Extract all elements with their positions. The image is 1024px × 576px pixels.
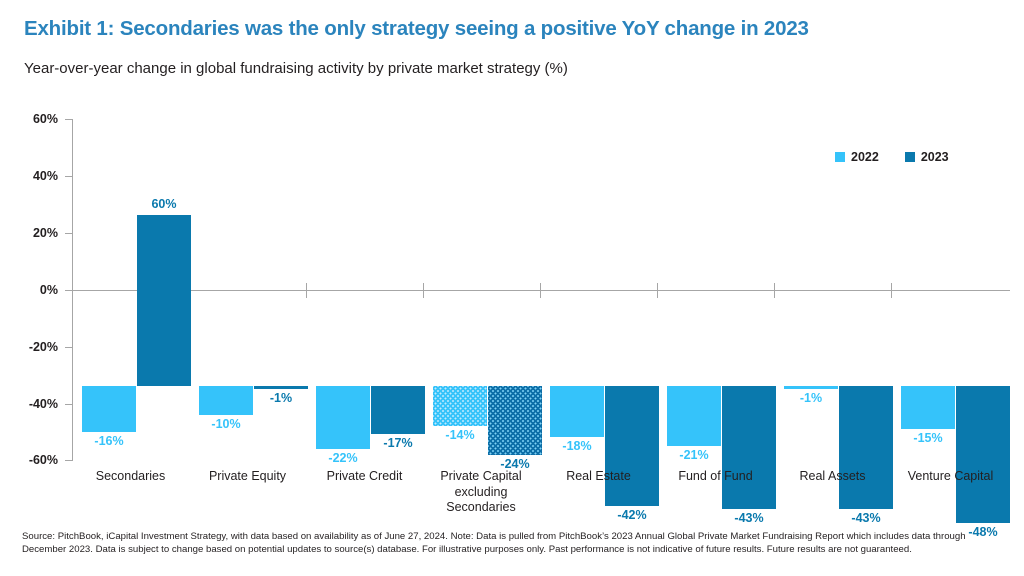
y-tick-mark [65,290,73,291]
x-axis-label-private-credit: Private Credit [306,469,423,485]
bar-2022-real-assets[interactable] [784,386,838,389]
x-axis-label-venture-capital: Venture Capital [891,469,1010,485]
y-tick-label: 0% [6,283,58,297]
bar-label-2023-real-assets: -43% [836,511,896,525]
bar-2023-private-credit[interactable] [371,386,425,434]
bar-label-2023-private-equity: -1% [251,391,311,405]
y-tick-label: -40% [6,397,58,411]
x-tick-mark [423,283,424,298]
x-axis-label-secondaries: Secondaries [72,469,189,485]
y-tick-mark [65,119,73,120]
zero-baseline [72,290,1010,291]
bar-2023-real-assets[interactable] [839,386,893,509]
y-tick-mark [65,347,73,348]
y-tick-label: 60% [6,112,58,126]
y-tick-mark [65,176,73,177]
bar-label-2023-fund-of-fund: -43% [719,511,779,525]
x-axis-label-private-equity: Private Equity [189,469,306,485]
bar-2023-fund-of-fund[interactable] [722,386,776,509]
x-axis-label-private-capital-excluding-secondaries: Private Capital excluding Secondaries [428,469,534,516]
bar-2023-private-capital-excluding-secondaries[interactable] [488,386,542,455]
y-tick-label: -60% [6,453,58,467]
bar-2023-real-estate[interactable] [605,386,659,506]
bar-2022-private-credit[interactable] [316,386,370,449]
bar-2022-venture-capital[interactable] [901,386,955,429]
bar-2022-real-estate[interactable] [550,386,604,437]
bar-2023-secondaries[interactable] [137,215,191,386]
bar-2022-fund-of-fund[interactable] [667,386,721,446]
x-tick-mark [891,283,892,298]
x-axis-label-real-estate: Real Estate [540,469,657,485]
bar-chart: 60% 40% 20% 0% -20% -40% -60% -16% 60% -… [0,96,1024,516]
bar-2023-venture-capital[interactable] [956,386,1010,523]
y-tick-label: 20% [6,226,58,240]
y-tick-mark [65,404,73,405]
bar-label-2022-secondaries: -16% [79,434,139,448]
bar-2022-private-capital-excluding-secondaries[interactable] [433,386,487,426]
x-tick-mark [540,283,541,298]
x-tick-mark [774,283,775,298]
bar-label-2023-real-estate: -42% [602,508,662,522]
page-title: Exhibit 1: Secondaries was the only stra… [24,17,809,41]
x-axis-label-real-assets: Real Assets [774,469,891,485]
x-axis-label-fund-of-fund: Fund of Fund [657,469,774,485]
bar-label-2022-private-credit: -22% [313,451,373,465]
y-tick-label: 40% [6,169,58,183]
y-tick-mark [65,460,73,461]
bar-label-2023-secondaries: 60% [134,197,194,211]
source-footnote: Source: PitchBook, iCapital Investment S… [22,530,1010,556]
bar-label-2023-private-credit: -17% [368,436,428,450]
x-tick-mark [306,283,307,298]
bar-label-2022-private-equity: -10% [196,417,256,431]
bar-label-2022-venture-capital: -15% [898,431,958,445]
bar-label-2022-private-capital-excluding-secondaries: -14% [430,428,490,442]
bar-label-2022-real-assets: -1% [781,391,841,405]
bar-2023-private-equity[interactable] [254,386,308,389]
x-tick-mark [657,283,658,298]
bar-2022-private-equity[interactable] [199,386,253,415]
bar-label-2022-fund-of-fund: -21% [664,448,724,462]
bar-2022-secondaries[interactable] [82,386,136,432]
y-tick-label: -20% [6,340,58,354]
chart-subtitle: Year-over-year change in global fundrais… [24,60,568,77]
bar-label-2022-real-estate: -18% [547,439,607,453]
y-tick-mark [65,233,73,234]
